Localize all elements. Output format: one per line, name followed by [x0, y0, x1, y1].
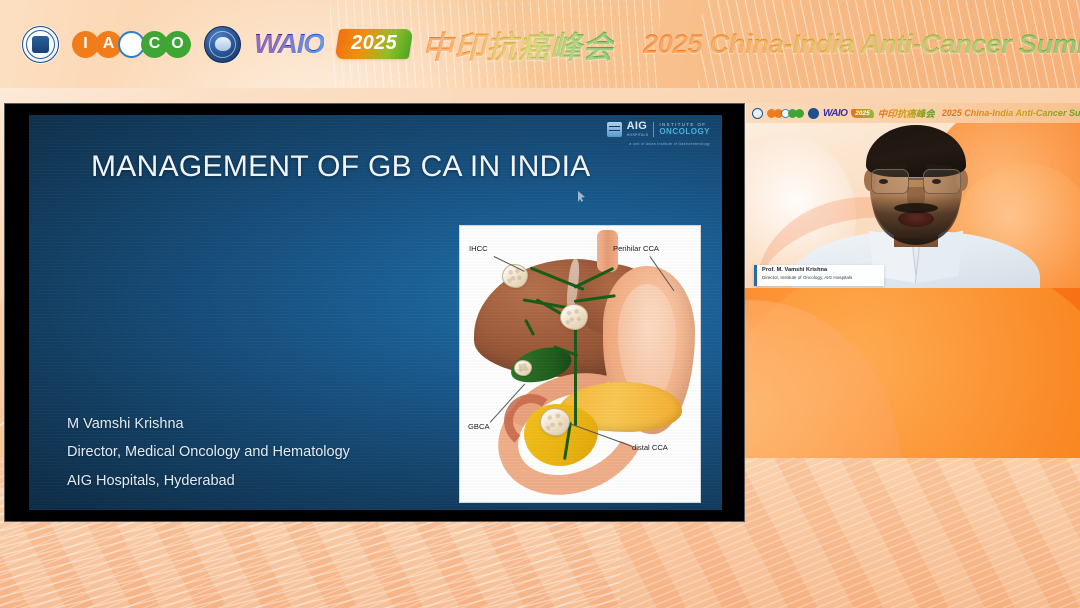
iasco-logo: I A S C O — [72, 31, 191, 58]
mini-globe-logo-icon — [808, 108, 819, 119]
webcam-mini-header: WAIO 2025 中印抗癌峰会 2025 China-India Anti-C… — [746, 103, 1080, 123]
aig-hospitals-logo: AIG HOSPITALS INSTITUTE OF ONCOLOGY — [607, 121, 710, 137]
event-header-banner: I A S C O WAIO 2025 中印抗癌峰会 2025 China-In… — [0, 0, 1080, 88]
slide-canvas: AIG HOSPITALS INSTITUTE OF ONCOLOGY a un… — [29, 115, 722, 510]
byline-role: Director, Medical Oncology and Hematolog… — [67, 438, 350, 466]
speaker-role: Director, Institute of Oncology, AIG Hos… — [762, 275, 884, 281]
slide-byline: M Vamshi Krishna Director, Medical Oncol… — [67, 410, 350, 495]
tumor-perihilar — [560, 304, 588, 330]
figure-label-distal: distal CCA — [632, 443, 668, 452]
slide-title: MANAGEMENT OF GB CA IN INDIA — [91, 150, 591, 184]
byline-affiliation: AIG Hospitals, Hyderabad — [67, 467, 350, 495]
speaker-video-feed — [746, 103, 1080, 288]
byline-presenter: M Vamshi Krishna — [67, 410, 350, 438]
figure-label-perihilar: Perihilar CCA — [613, 244, 659, 253]
figure-label-gbca: GBCA — [468, 422, 490, 431]
english-event-title: 2025 China-India Anti-Cancer Summit — [643, 29, 1080, 60]
mini-institution-crest-icon — [752, 108, 763, 119]
mini-chinese-title: 中印抗癌峰会 — [878, 106, 935, 120]
speaker-nameplate: Prof. M. Vamshi Krishna Director, Instit… — [754, 265, 884, 286]
chinese-event-title: 中印抗癌峰会 — [422, 22, 614, 67]
year-badge-label: 2025 — [351, 32, 397, 55]
mini-waio-logo: WAIO — [823, 108, 847, 119]
common-bile-duct — [574, 316, 577, 426]
globe-logo-icon — [204, 26, 241, 63]
aig-wordmark: AIG HOSPITALS — [627, 121, 649, 137]
mini-english-title: 2025 China-India Anti-Cancer Summit — [942, 108, 1080, 118]
iasco-letter-o: O — [164, 31, 191, 58]
aig-divider — [653, 122, 654, 137]
waio-logo: WAIO — [254, 28, 324, 60]
aig-institute-line2: ONCOLOGY — [659, 128, 710, 137]
biliary-anatomy-figure: IHCC Perihilar CCA GBCA distal CCA — [459, 225, 701, 503]
speaker-webcam-panel[interactable]: WAIO 2025 中印抗癌峰会 2025 China-India Anti-C… — [745, 103, 1080, 288]
presentation-slide-frame[interactable]: AIG HOSPITALS INSTITUTE OF ONCOLOGY a un… — [4, 103, 745, 522]
speaker-mustache — [894, 203, 938, 213]
mini-year-badge: 2025 — [851, 109, 873, 118]
tumor-distal — [540, 408, 570, 436]
institution-crest-icon — [22, 26, 59, 63]
speaker-name: Prof. M. Vamshi Krishna — [762, 267, 884, 275]
aig-mark-icon — [607, 122, 622, 137]
aig-tagline: a unit of Asian Institute of Gastroenter… — [629, 142, 710, 146]
speaker-mouth — [898, 211, 934, 227]
tumor-ihcc — [502, 264, 528, 288]
aig-mark-text: AIG — [627, 121, 649, 132]
year-badge: 2025 — [334, 29, 413, 59]
aig-institute-block: INSTITUTE OF ONCOLOGY — [659, 122, 710, 137]
aig-mark-subtext: HOSPITALS — [627, 133, 649, 137]
stream-stage: I A S C O WAIO 2025 中印抗癌峰会 2025 China-In… — [0, 0, 1080, 608]
tumor-gallbladder — [514, 360, 532, 376]
mini-iasco-logo — [767, 109, 804, 118]
figure-label-ihcc: IHCC — [469, 244, 488, 253]
mouse-cursor-icon — [578, 191, 585, 202]
